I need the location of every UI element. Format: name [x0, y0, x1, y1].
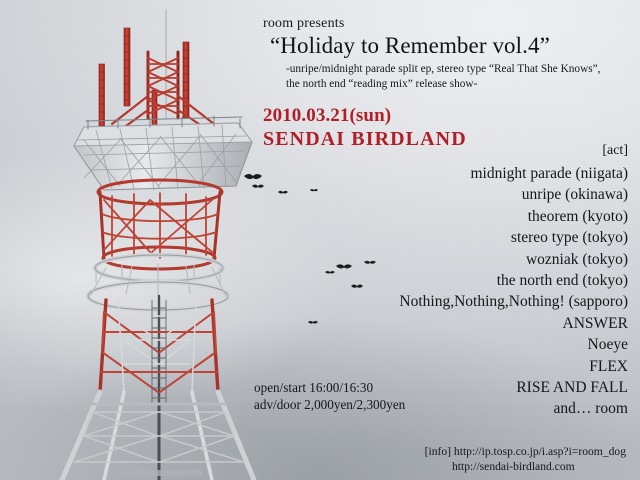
- act-item: FLEX: [208, 356, 628, 377]
- act-item: stereo type (tokyo): [208, 227, 628, 248]
- act-section-label: [act]: [602, 143, 628, 159]
- schedule-and-price: open/start 16:00/16:30 adv/door 2,000yen…: [254, 379, 405, 413]
- info-url-room[interactable]: [info] http://ip.tosp.co.jp/i.asp?i=room…: [425, 444, 626, 459]
- info-url-birdland[interactable]: http://sendai-birdland.com: [425, 459, 626, 474]
- act-item: unripe (okinawa): [208, 184, 628, 205]
- event-venue: SENDAI BIRDLAND: [263, 128, 467, 151]
- flyer-canvas: room presents “Holiday to Remember vol.4…: [0, 0, 640, 480]
- info-links: [info] http://ip.tosp.co.jp/i.asp?i=room…: [425, 444, 626, 474]
- presenter-label: room presents: [263, 16, 345, 32]
- open-start-time: open/start 16:00/16:30: [254, 379, 405, 396]
- act-item: Nothing,Nothing,Nothing! (sapporo): [208, 291, 628, 312]
- ticket-price: adv/door 2,000yen/2,300yen: [254, 396, 405, 413]
- act-item: theorem (kyoto): [208, 206, 628, 227]
- act-item: ANSWER: [208, 313, 628, 334]
- event-title: “Holiday to Remember vol.4”: [270, 33, 550, 59]
- act-item: the north end (tokyo): [208, 270, 628, 291]
- event-subtitle: -unripe/midnight parade split ep, stereo…: [286, 62, 616, 92]
- act-item: wozniak (tokyo): [208, 249, 628, 270]
- act-item: Noeye: [208, 334, 628, 355]
- event-date: 2010.03.21(sun): [263, 105, 391, 127]
- act-item: midnight parade (niigata): [208, 163, 628, 184]
- subtitle-line-1: -unripe/midnight parade split ep, stereo…: [286, 63, 538, 75]
